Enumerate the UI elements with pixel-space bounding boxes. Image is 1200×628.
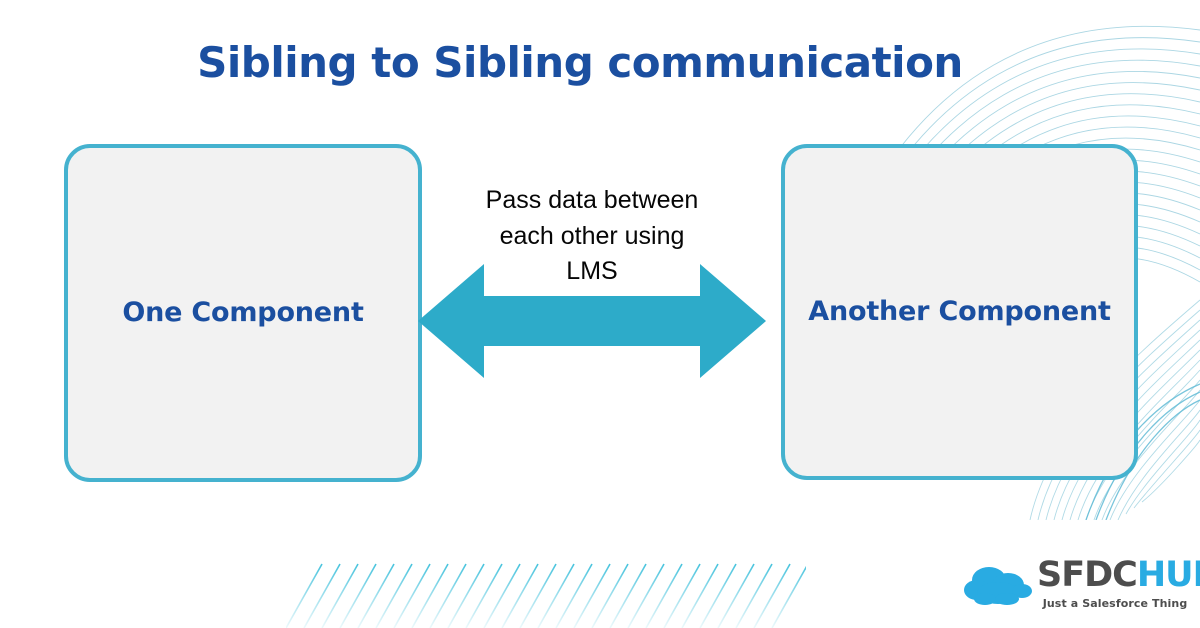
component-box-one[interactable]: One Component — [64, 144, 422, 482]
logo-wordmark: SFDCHUB — [1037, 558, 1200, 593]
cloud-icon — [963, 562, 1035, 608]
connector-caption-line1: Pass data between — [440, 183, 744, 219]
connector-caption: Pass data between each other using LMS — [440, 183, 744, 290]
diagonal-stripes-decoration — [286, 556, 806, 628]
logo-tagline: Just a Salesforce Thing — [1041, 597, 1189, 610]
brand-logo[interactable]: SFDCHUB Just a Salesforce Thing — [963, 552, 1188, 620]
logo-wordmark-sfdc: SFDC — [1037, 555, 1137, 595]
page-title: Sibling to Sibling communication — [0, 38, 1160, 87]
connector-caption-line2: each other using — [440, 219, 744, 255]
component-box-another-label: Another Component — [796, 293, 1122, 331]
logo-wordmark-hub: HUB — [1137, 555, 1200, 595]
component-box-another[interactable]: Another Component — [781, 144, 1138, 480]
component-box-another-label-line1: Another — [808, 296, 929, 327]
component-box-one-label: One Component — [110, 294, 375, 332]
component-box-another-label-line2: Component — [938, 296, 1110, 327]
slide-canvas: Sibling to Sibling communication One Com… — [0, 0, 1200, 628]
connector-caption-line3: LMS — [440, 254, 744, 290]
